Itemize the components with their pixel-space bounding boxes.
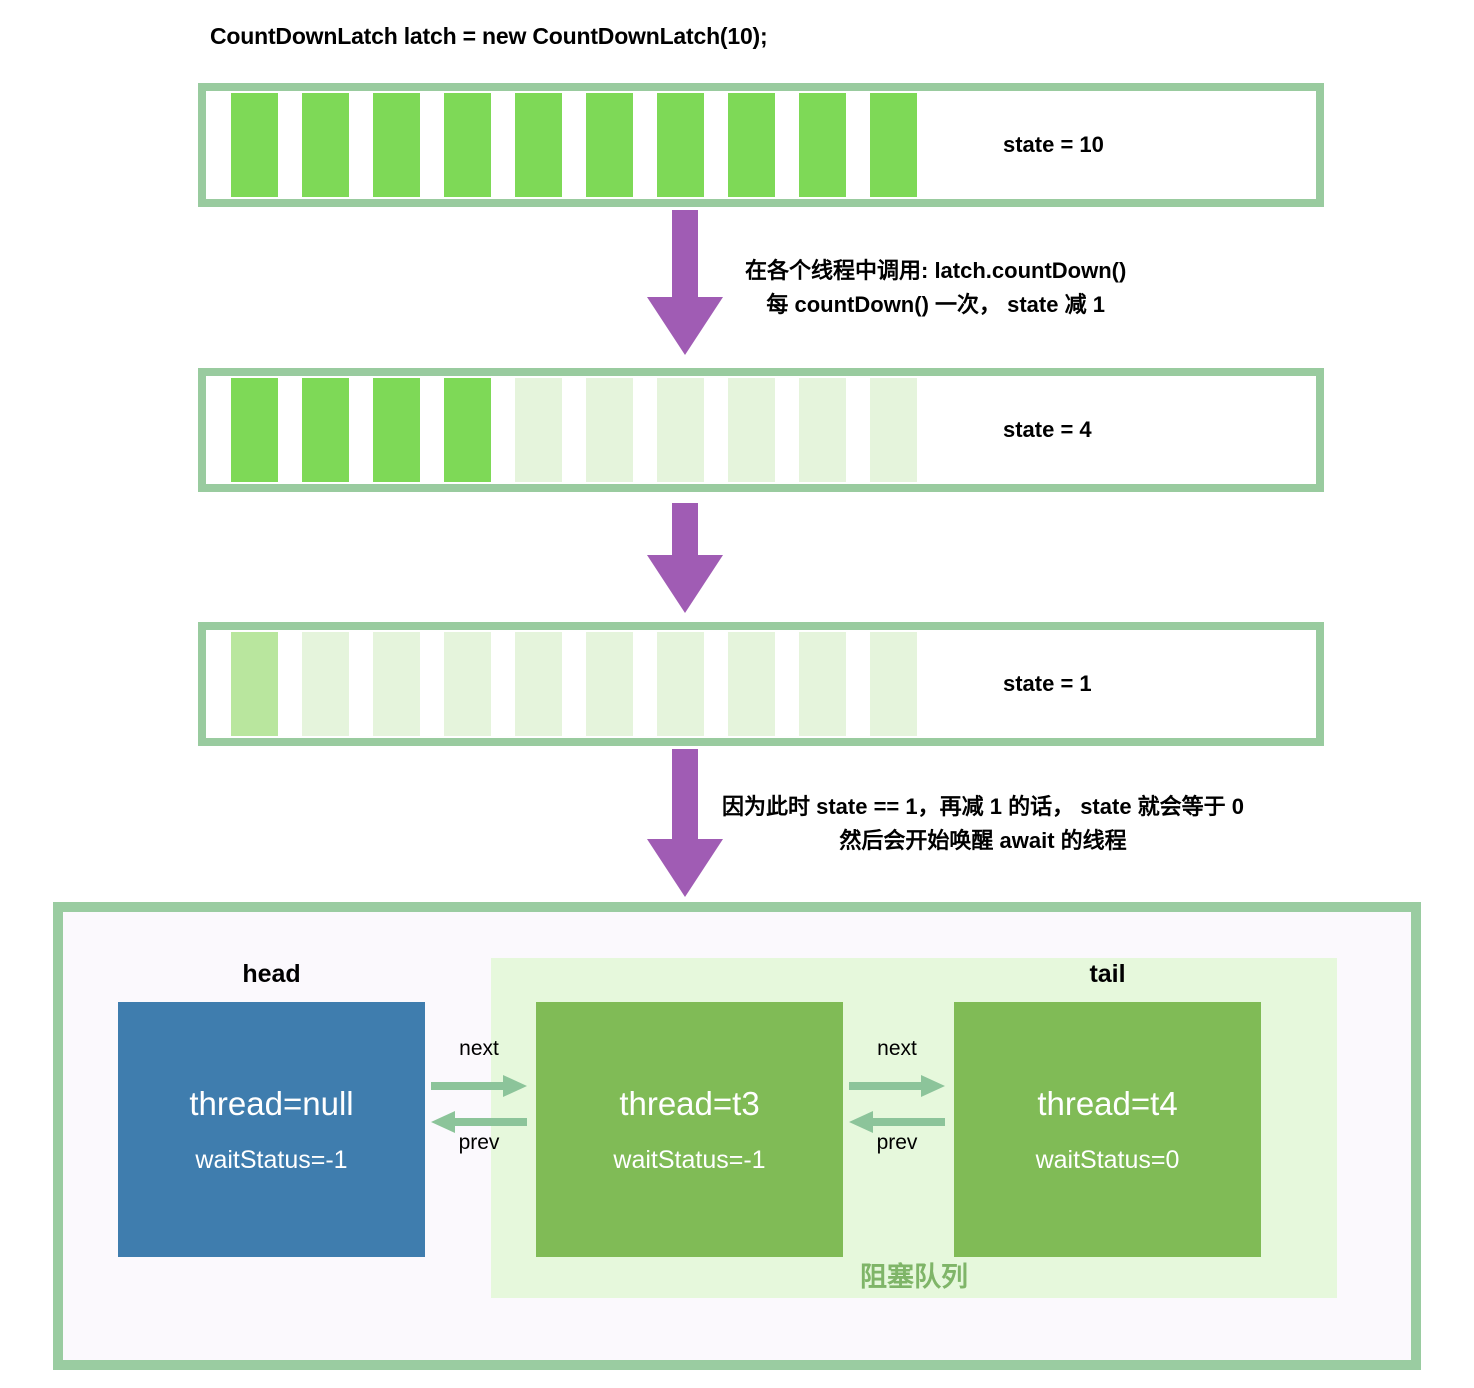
slot [515, 93, 562, 197]
arrow-shaft [672, 210, 698, 302]
arrow-head-icon [647, 555, 723, 613]
slot [373, 632, 420, 736]
flow-arrow-down [640, 210, 730, 355]
slot-track-1 [231, 632, 917, 736]
prev-arrow-icon [849, 1115, 945, 1129]
slot [302, 632, 349, 736]
page-title: CountDownLatch latch = new CountDownLatc… [210, 23, 767, 50]
state-row-4: state = 4 [198, 368, 1324, 492]
state-row-1: state = 1 [198, 622, 1324, 746]
annotation-line-1: 因为此时 state == 1，再减 1 的话， state 就会等于 0 [722, 790, 1244, 824]
node-waitstatus-value: waitStatus=0 [1036, 1148, 1180, 1173]
slot [444, 378, 491, 482]
slot [373, 378, 420, 482]
slot [728, 93, 775, 197]
slot [373, 93, 420, 197]
prev-label: prev [431, 1131, 527, 1155]
slot [444, 93, 491, 197]
node-head[interactable]: thread=null waitStatus=-1 [118, 1002, 425, 1257]
annotation-line-2: 每 countDown() 一次， state 减 1 [745, 288, 1126, 322]
state-label: state = 4 [1003, 417, 1092, 443]
arrow-head-icon [647, 297, 723, 355]
next-arrow-icon [849, 1079, 945, 1093]
slot [870, 93, 917, 197]
slot [444, 632, 491, 736]
tail-pointer-label: tail [954, 960, 1261, 989]
slot [586, 632, 633, 736]
state-label: state = 10 [1003, 132, 1104, 158]
node-thread-value: thread=t4 [1037, 1087, 1177, 1120]
node-waitstatus-value: waitStatus=-1 [613, 1148, 765, 1173]
slot-track-10 [231, 93, 917, 197]
aqs-queue-panel: 阻塞队列 head tail thread=null waitStatus=-1… [53, 902, 1421, 1370]
prev-arrow-icon [431, 1115, 527, 1129]
arrow-shaft [672, 503, 698, 561]
slot [799, 93, 846, 197]
slot [728, 632, 775, 736]
slot-track-4 [231, 378, 917, 482]
next-label: next [431, 1037, 527, 1061]
node-thread-value: thread=t3 [619, 1087, 759, 1120]
annotation-countdown: 在各个线程中调用: latch.countDown() 每 countDown(… [745, 254, 1126, 322]
flow-arrow-down [640, 503, 730, 613]
slot [586, 378, 633, 482]
diagram-canvas: CountDownLatch latch = new CountDownLatc… [0, 0, 1474, 1388]
arrow-head-icon [647, 839, 723, 897]
slot [231, 378, 278, 482]
node-t3[interactable]: thread=t3 waitStatus=-1 [536, 1002, 843, 1257]
slot [728, 378, 775, 482]
slot [799, 632, 846, 736]
state-label: state = 1 [1003, 671, 1092, 697]
next-label: next [849, 1037, 945, 1061]
slot [586, 93, 633, 197]
node-waitstatus-value: waitStatus=-1 [195, 1148, 347, 1173]
annotation-line-1: 在各个线程中调用: latch.countDown() [745, 254, 1126, 288]
slot [515, 632, 562, 736]
slot [657, 93, 704, 197]
annotation-wakeup: 因为此时 state == 1，再减 1 的话， state 就会等于 0 然后… [722, 790, 1244, 858]
slot [657, 378, 704, 482]
head-pointer-label: head [118, 960, 425, 989]
blocking-queue-caption: 阻塞队列 [491, 1255, 1337, 1294]
slot [870, 378, 917, 482]
flow-arrow-down [640, 749, 730, 897]
slot [515, 378, 562, 482]
slot [657, 632, 704, 736]
slot [870, 632, 917, 736]
node-thread-value: thread=null [189, 1087, 353, 1120]
slot [231, 93, 278, 197]
prev-label: prev [849, 1131, 945, 1155]
state-row-10: state = 10 [198, 83, 1324, 207]
slot [302, 378, 349, 482]
next-arrow-icon [431, 1079, 527, 1093]
node-t4[interactable]: thread=t4 waitStatus=0 [954, 1002, 1261, 1257]
slot [302, 93, 349, 197]
slot [799, 378, 846, 482]
annotation-line-2: 然后会开始唤醒 await 的线程 [722, 824, 1244, 858]
slot [231, 632, 278, 736]
arrow-shaft [672, 749, 698, 841]
